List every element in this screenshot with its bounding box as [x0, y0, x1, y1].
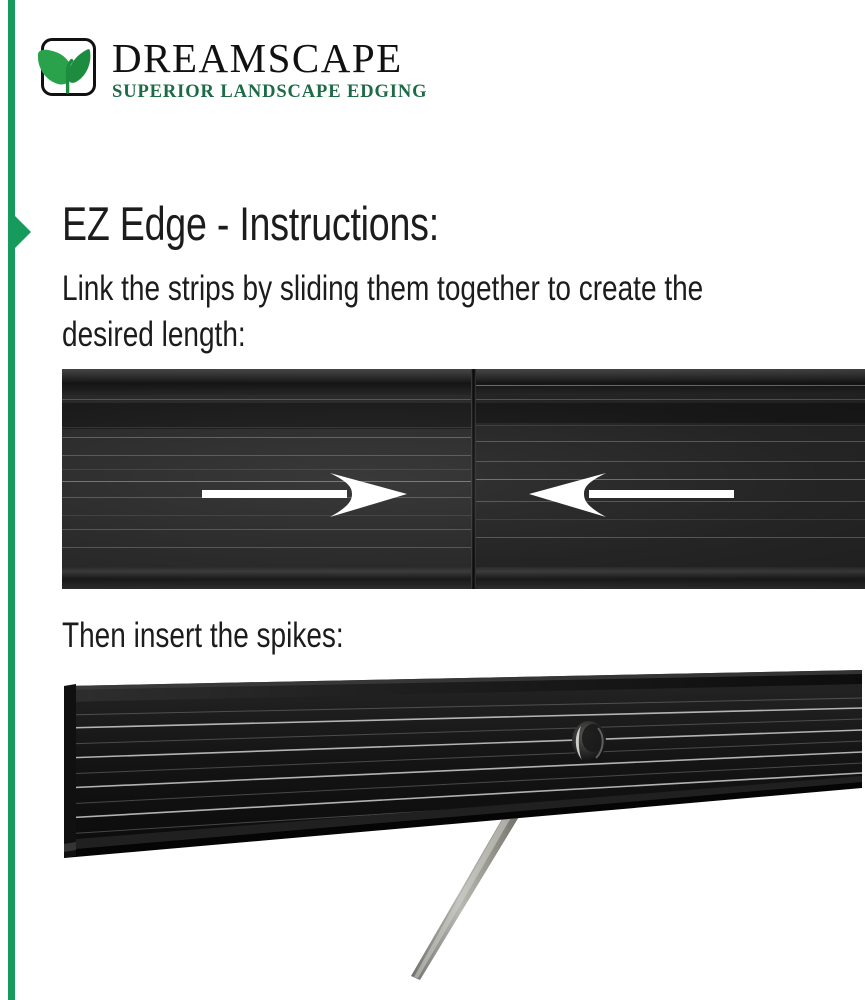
left-accent-rail — [8, 0, 15, 1000]
step-2-instruction-text: Then insert the spikes: — [62, 613, 344, 659]
figure-strips-joining — [62, 369, 865, 589]
two-leaves-in-rounded-square-icon — [34, 36, 98, 100]
arrow-left-icon — [524, 465, 734, 530]
brand-logo: DREAMSCAPE SUPERIOR LANDSCAPE EDGING — [34, 36, 427, 103]
strip-seam — [471, 369, 476, 589]
brand-name: DREAMSCAPE — [112, 38, 427, 78]
figure-strip-with-spike — [62, 668, 865, 998]
spike-hole — [572, 721, 606, 761]
page-title: EZ Edge - Instructions: — [62, 198, 439, 250]
step-1-instruction-text: Link the strips by sliding them together… — [62, 266, 798, 358]
brand-tagline: SUPERIOR LANDSCAPE EDGING — [112, 81, 427, 103]
arrow-right-icon — [202, 465, 412, 530]
right-triangle-marker-icon — [15, 216, 31, 248]
